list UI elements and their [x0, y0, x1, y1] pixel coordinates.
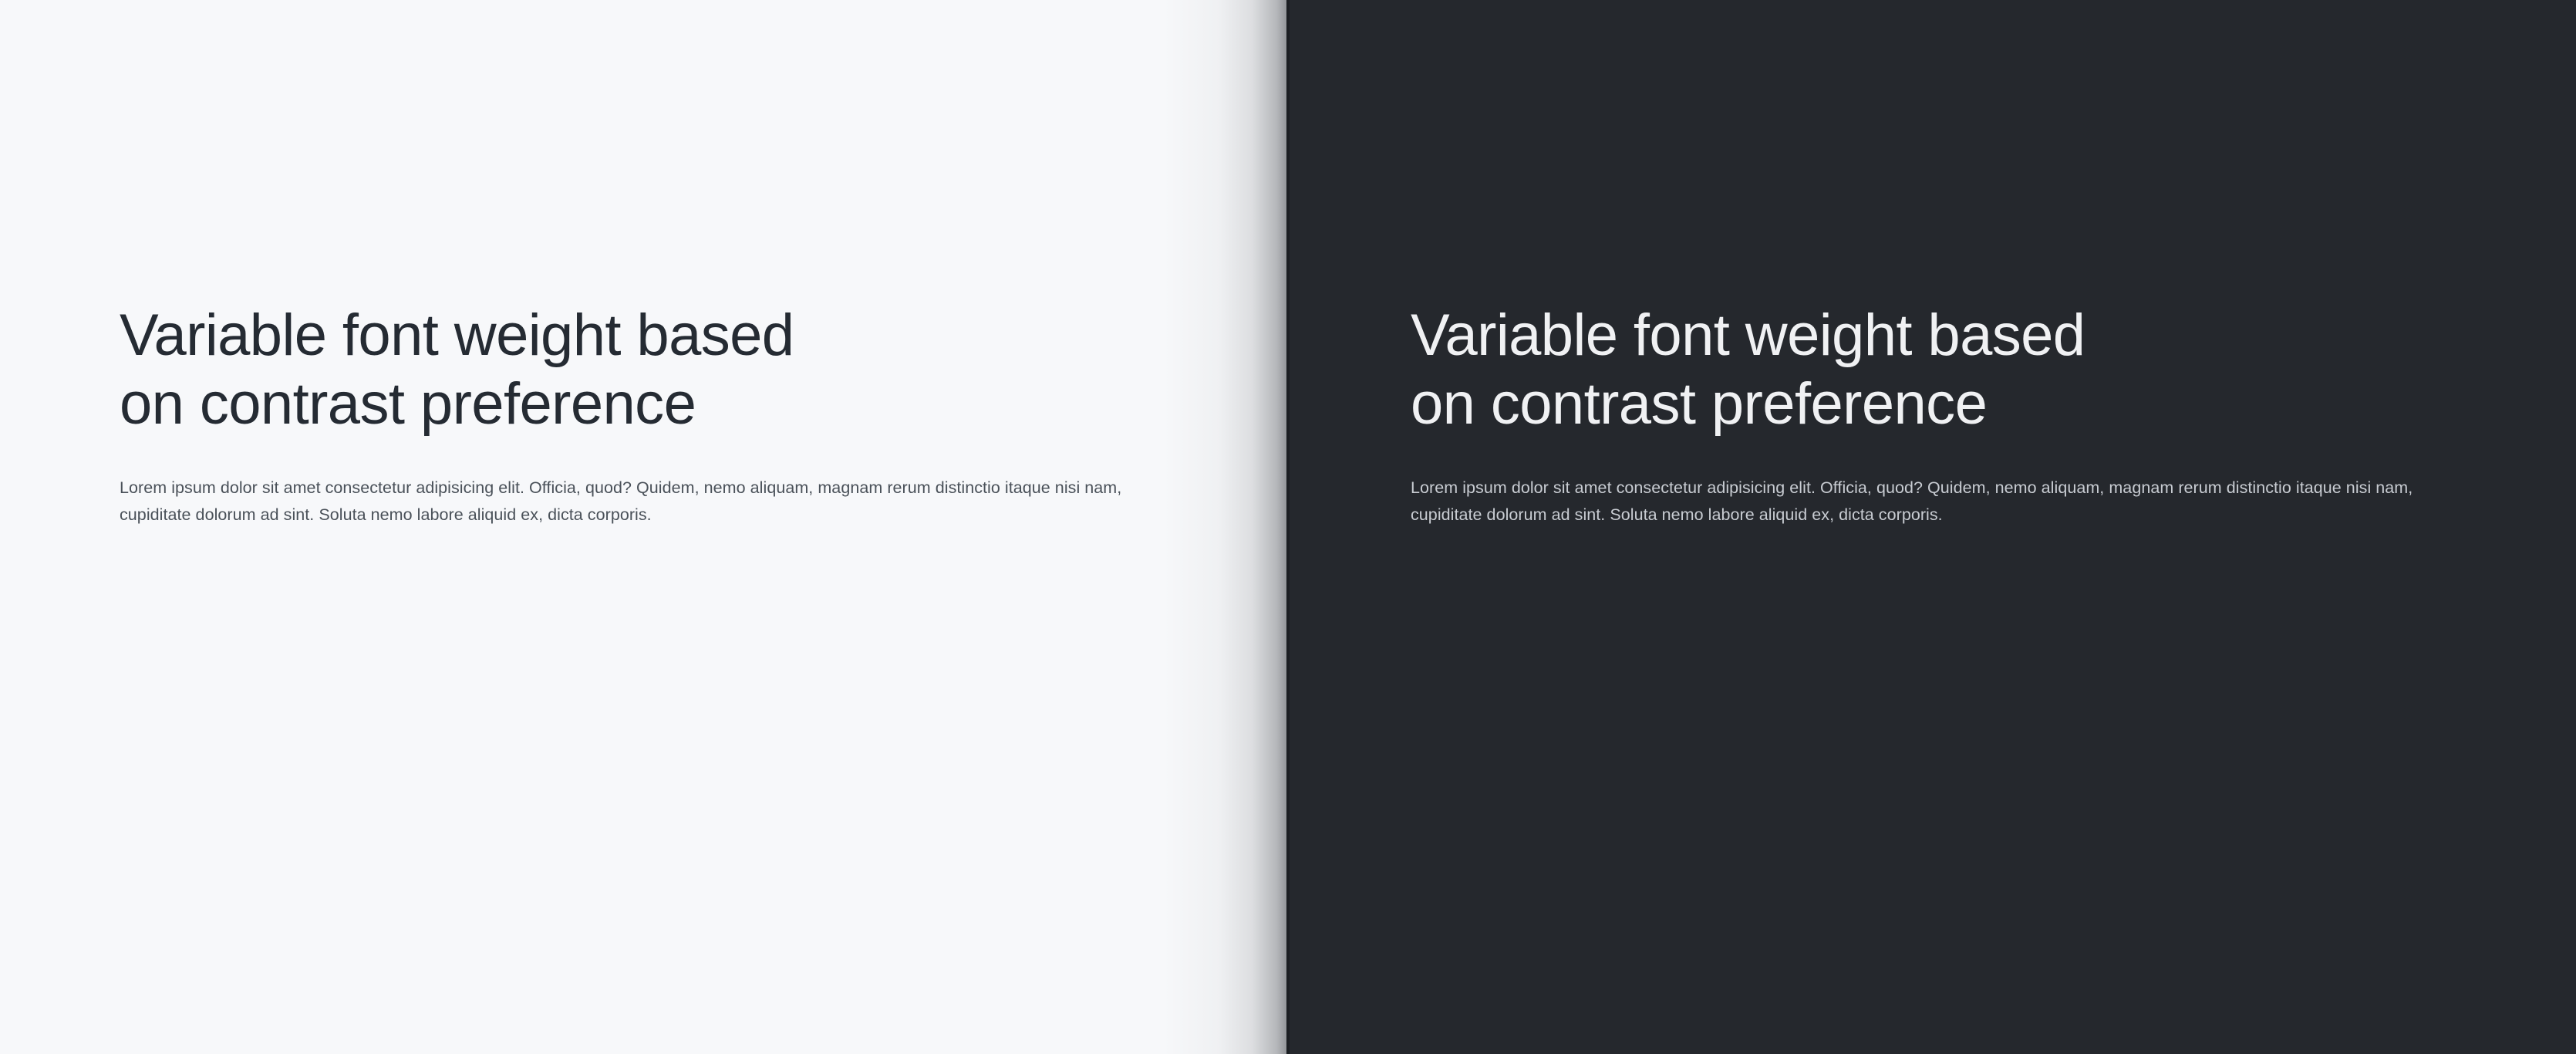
page-title: Variable font weight based on contrast p… — [1411, 302, 2429, 439]
page-title: Variable font weight based on contrast p… — [120, 302, 1138, 439]
body-paragraph: Lorem ipsum dolor sit amet consectetur a… — [1411, 475, 2427, 529]
split-screen-comparison: Variable font weight based on contrast p… — [0, 0, 2576, 1054]
light-mode-panel: Variable font weight based on contrast p… — [0, 0, 1286, 1054]
dark-mode-panel: Variable font weight based on contrast p… — [1286, 0, 2576, 1054]
body-paragraph: Lorem ipsum dolor sit amet consectetur a… — [120, 475, 1136, 529]
